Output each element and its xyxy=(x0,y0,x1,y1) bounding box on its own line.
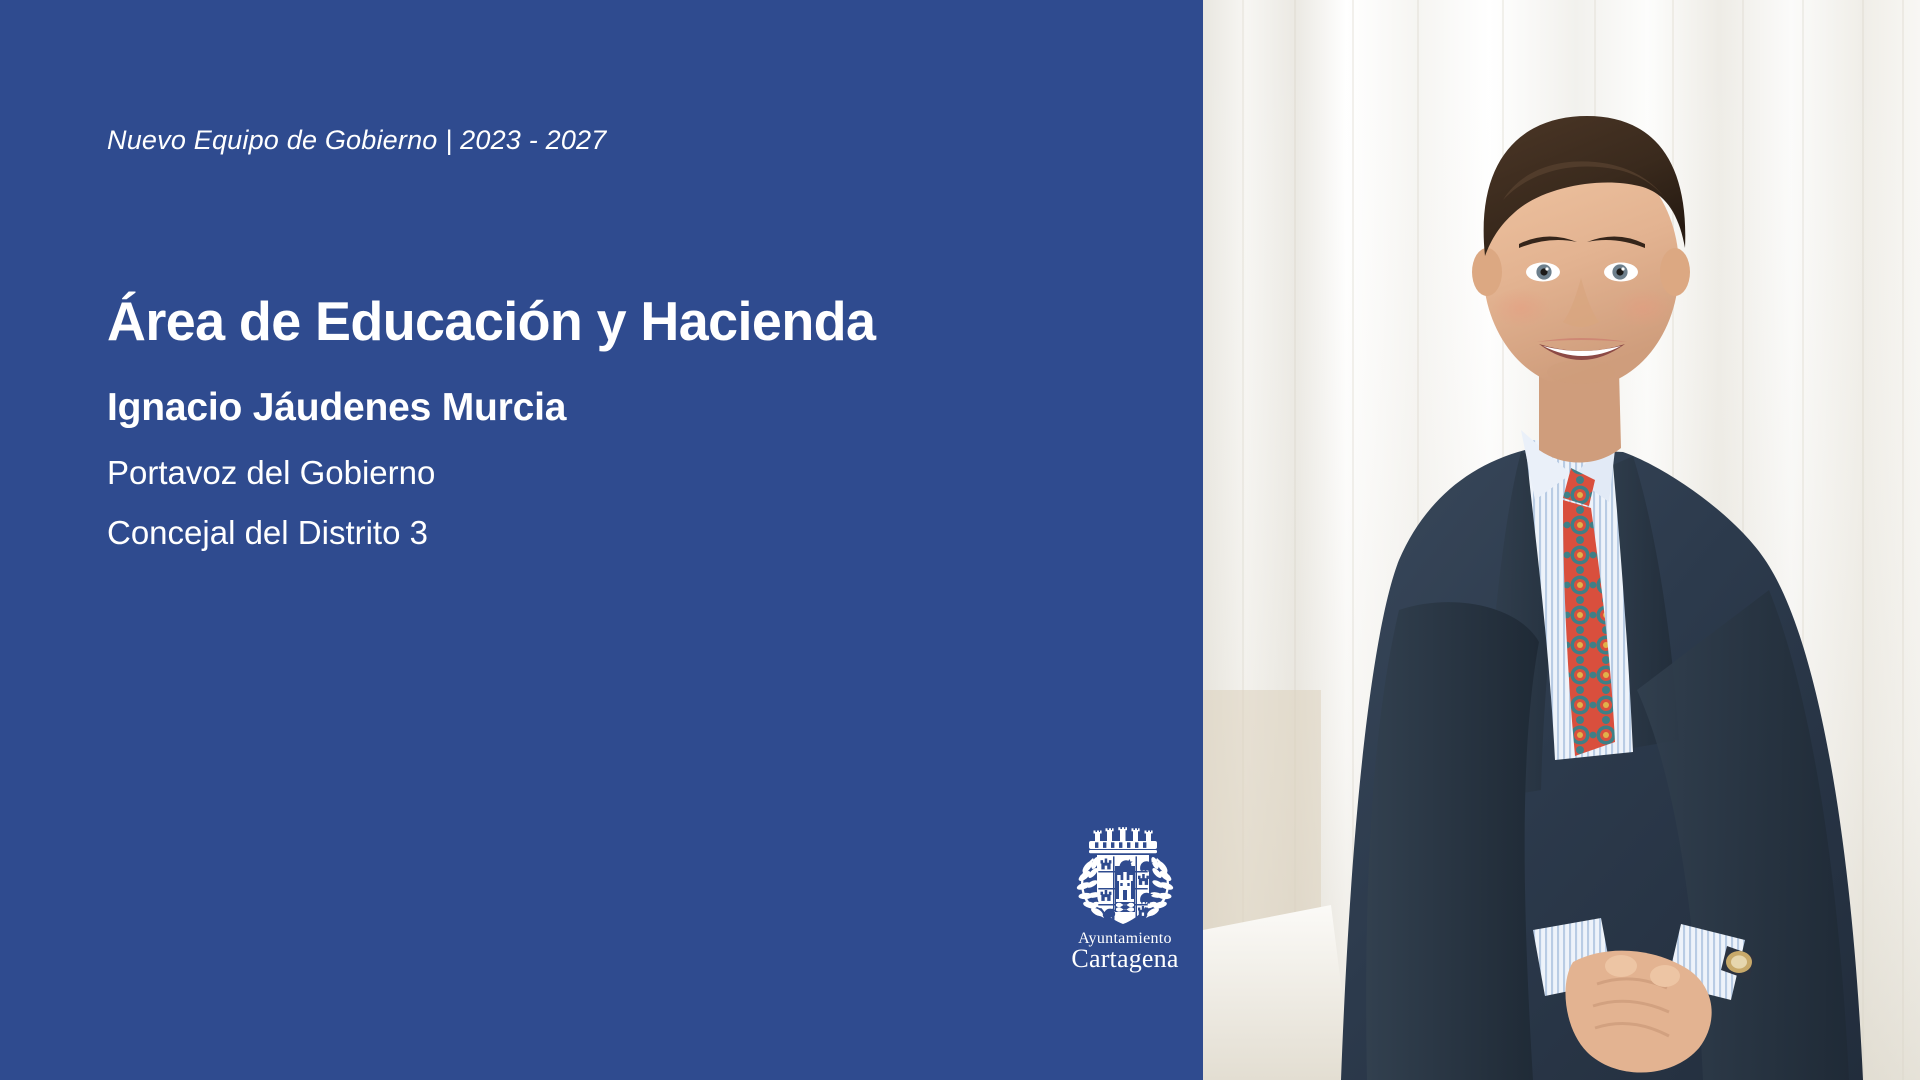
presentation-slide: Nuevo Equipo de Gobierno | 2023 - 2027 Á… xyxy=(0,0,1920,1080)
logo-line-cartagena: Cartagena xyxy=(1071,946,1178,972)
page-title: Área de Educación y Hacienda xyxy=(107,289,875,353)
person-role-secondary: Concejal del Distrito 3 xyxy=(107,514,428,552)
eyebrow-text: Nuevo Equipo de Gobierno | 2023 - 2027 xyxy=(107,125,606,156)
coat-of-arms-icon xyxy=(1069,818,1181,930)
person-role-primary: Portavoz del Gobierno xyxy=(107,454,435,492)
portrait-photo xyxy=(1203,0,1920,1080)
info-panel: Nuevo Equipo de Gobierno | 2023 - 2027 Á… xyxy=(0,0,1203,1080)
portrait-illustration xyxy=(1203,0,1920,1080)
person-name: Ignacio Jáudenes Murcia xyxy=(107,386,566,430)
ayuntamiento-cartagena-logo: Ayuntamiento Cartagena xyxy=(1062,818,1188,974)
